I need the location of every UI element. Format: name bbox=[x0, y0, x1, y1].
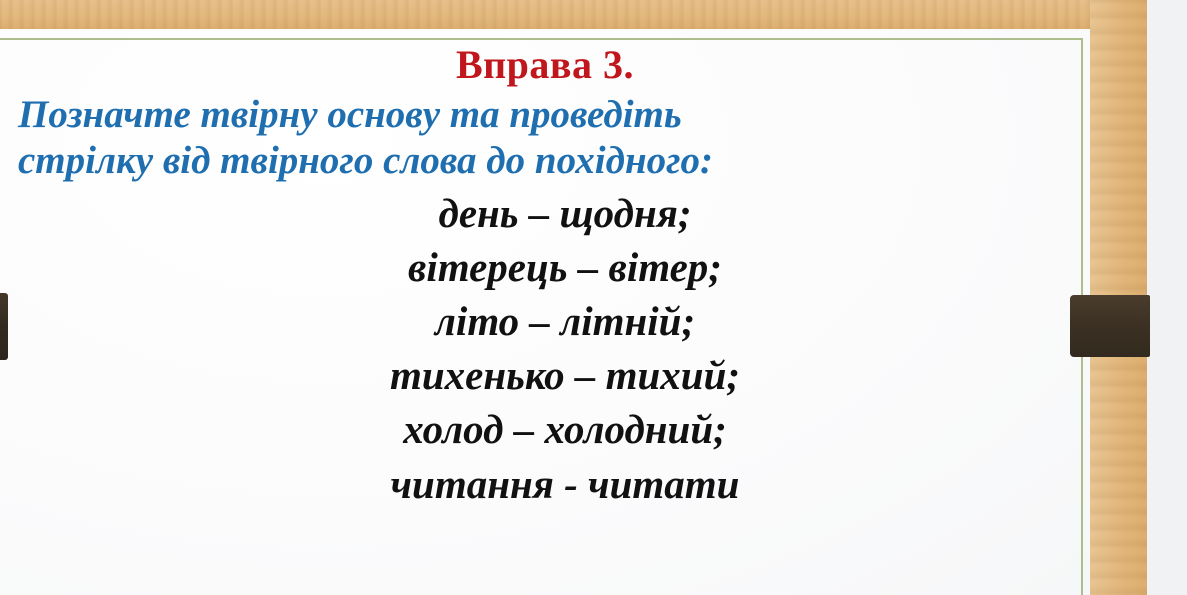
wooden-frame-top bbox=[0, 0, 1147, 29]
slide-content: Вправа 3. Позначте твірну основу та пров… bbox=[0, 29, 1090, 595]
word-pair-item: холод – холодний; bbox=[40, 402, 1090, 456]
sheet-clamp-right bbox=[1070, 295, 1150, 357]
exercise-title: Вправа 3. bbox=[0, 29, 1090, 86]
word-pair-item: вітерець – вітер; bbox=[40, 240, 1090, 294]
word-pair-item: тихенько – тихий; bbox=[40, 348, 1090, 402]
slide-sheet: Вправа 3. Позначте твірну основу та пров… bbox=[0, 29, 1090, 595]
instruction-line-1: Позначте твірну основу та проведіть bbox=[10, 92, 1080, 138]
presentation-slide-view: Вправа 3. Позначте твірну основу та пров… bbox=[0, 0, 1187, 595]
word-pair-item: літо – літній; bbox=[40, 294, 1090, 348]
sheet-clamp-left bbox=[0, 293, 8, 360]
word-pair-item: читання - читати bbox=[40, 457, 1090, 511]
exercise-instruction: Позначте твірну основу та проведіть стрі… bbox=[0, 86, 1090, 184]
background-right-margin bbox=[1147, 0, 1187, 595]
instruction-line-2: стрілку від твірного слова до похідного: bbox=[10, 138, 1080, 184]
word-pair-item: день – щодня; bbox=[40, 186, 1090, 240]
word-pair-list: день – щодня; вітерець – вітер; літо – л… bbox=[0, 184, 1090, 511]
